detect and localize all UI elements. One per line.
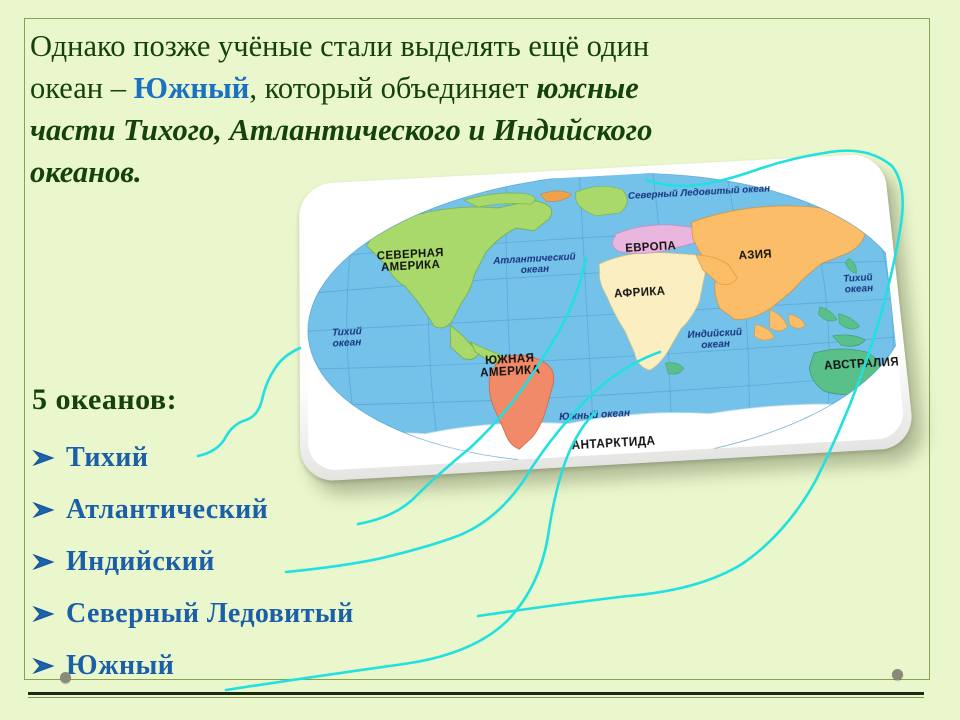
paragraph-line-3: части Тихого, Атлантического и Индийског… bbox=[30, 109, 930, 151]
paragraph-line-1-text: Однако позже учёные стали выделять ещё о… bbox=[30, 25, 649, 67]
handle-dot-left[interactable] bbox=[60, 672, 71, 683]
oceans-count-heading: 5 океанов: bbox=[32, 383, 177, 417]
paragraph-line-2-italic: южные bbox=[536, 71, 639, 105]
list-item[interactable]: Северный Ледовитый bbox=[32, 588, 552, 640]
list-item-label: Индийский bbox=[66, 546, 215, 578]
paragraph-line-1: Однако позже учёные стали выделять ещё о… bbox=[30, 25, 930, 67]
highlight-yuzhny: Южный bbox=[134, 71, 250, 105]
list-item[interactable]: Южный bbox=[32, 640, 552, 692]
arrow-bullet-icon bbox=[32, 552, 66, 572]
footer-rule-secondary bbox=[28, 697, 924, 698]
world-map-graphic bbox=[307, 161, 906, 471]
list-item-label: Тихий bbox=[66, 442, 148, 474]
map-card-inner: СЕВЕРНАЯ АМЕРИКА ЮЖНАЯ АМЕРИКА ЕВРОПА АЗ… bbox=[307, 161, 906, 471]
list-item-label: Северный Ледовитый bbox=[66, 598, 354, 630]
slide-canvas: Однако позже учёные стали выделять ещё о… bbox=[0, 0, 960, 720]
list-item[interactable]: Атлантический bbox=[32, 484, 552, 536]
handle-dot-right[interactable] bbox=[892, 669, 903, 680]
arrow-bullet-icon bbox=[32, 500, 66, 520]
list-item-label: Атлантический bbox=[66, 494, 268, 526]
list-item-label: Южный bbox=[66, 650, 174, 682]
paragraph-line-2: океан – Южный, который объединяет южные bbox=[30, 67, 930, 109]
footer-rule bbox=[28, 692, 924, 695]
list-item[interactable]: Тихий bbox=[32, 432, 552, 484]
oceans-list: Тихий Атлантический Индийский Северный Л… bbox=[32, 432, 552, 692]
paragraph-line-2-mid: , который объединяет bbox=[249, 71, 536, 105]
list-item[interactable]: Индийский bbox=[32, 536, 552, 588]
paragraph-line-2-lead: океан – bbox=[30, 71, 134, 105]
arrow-bullet-icon bbox=[32, 448, 66, 468]
arrow-bullet-icon bbox=[32, 604, 66, 624]
